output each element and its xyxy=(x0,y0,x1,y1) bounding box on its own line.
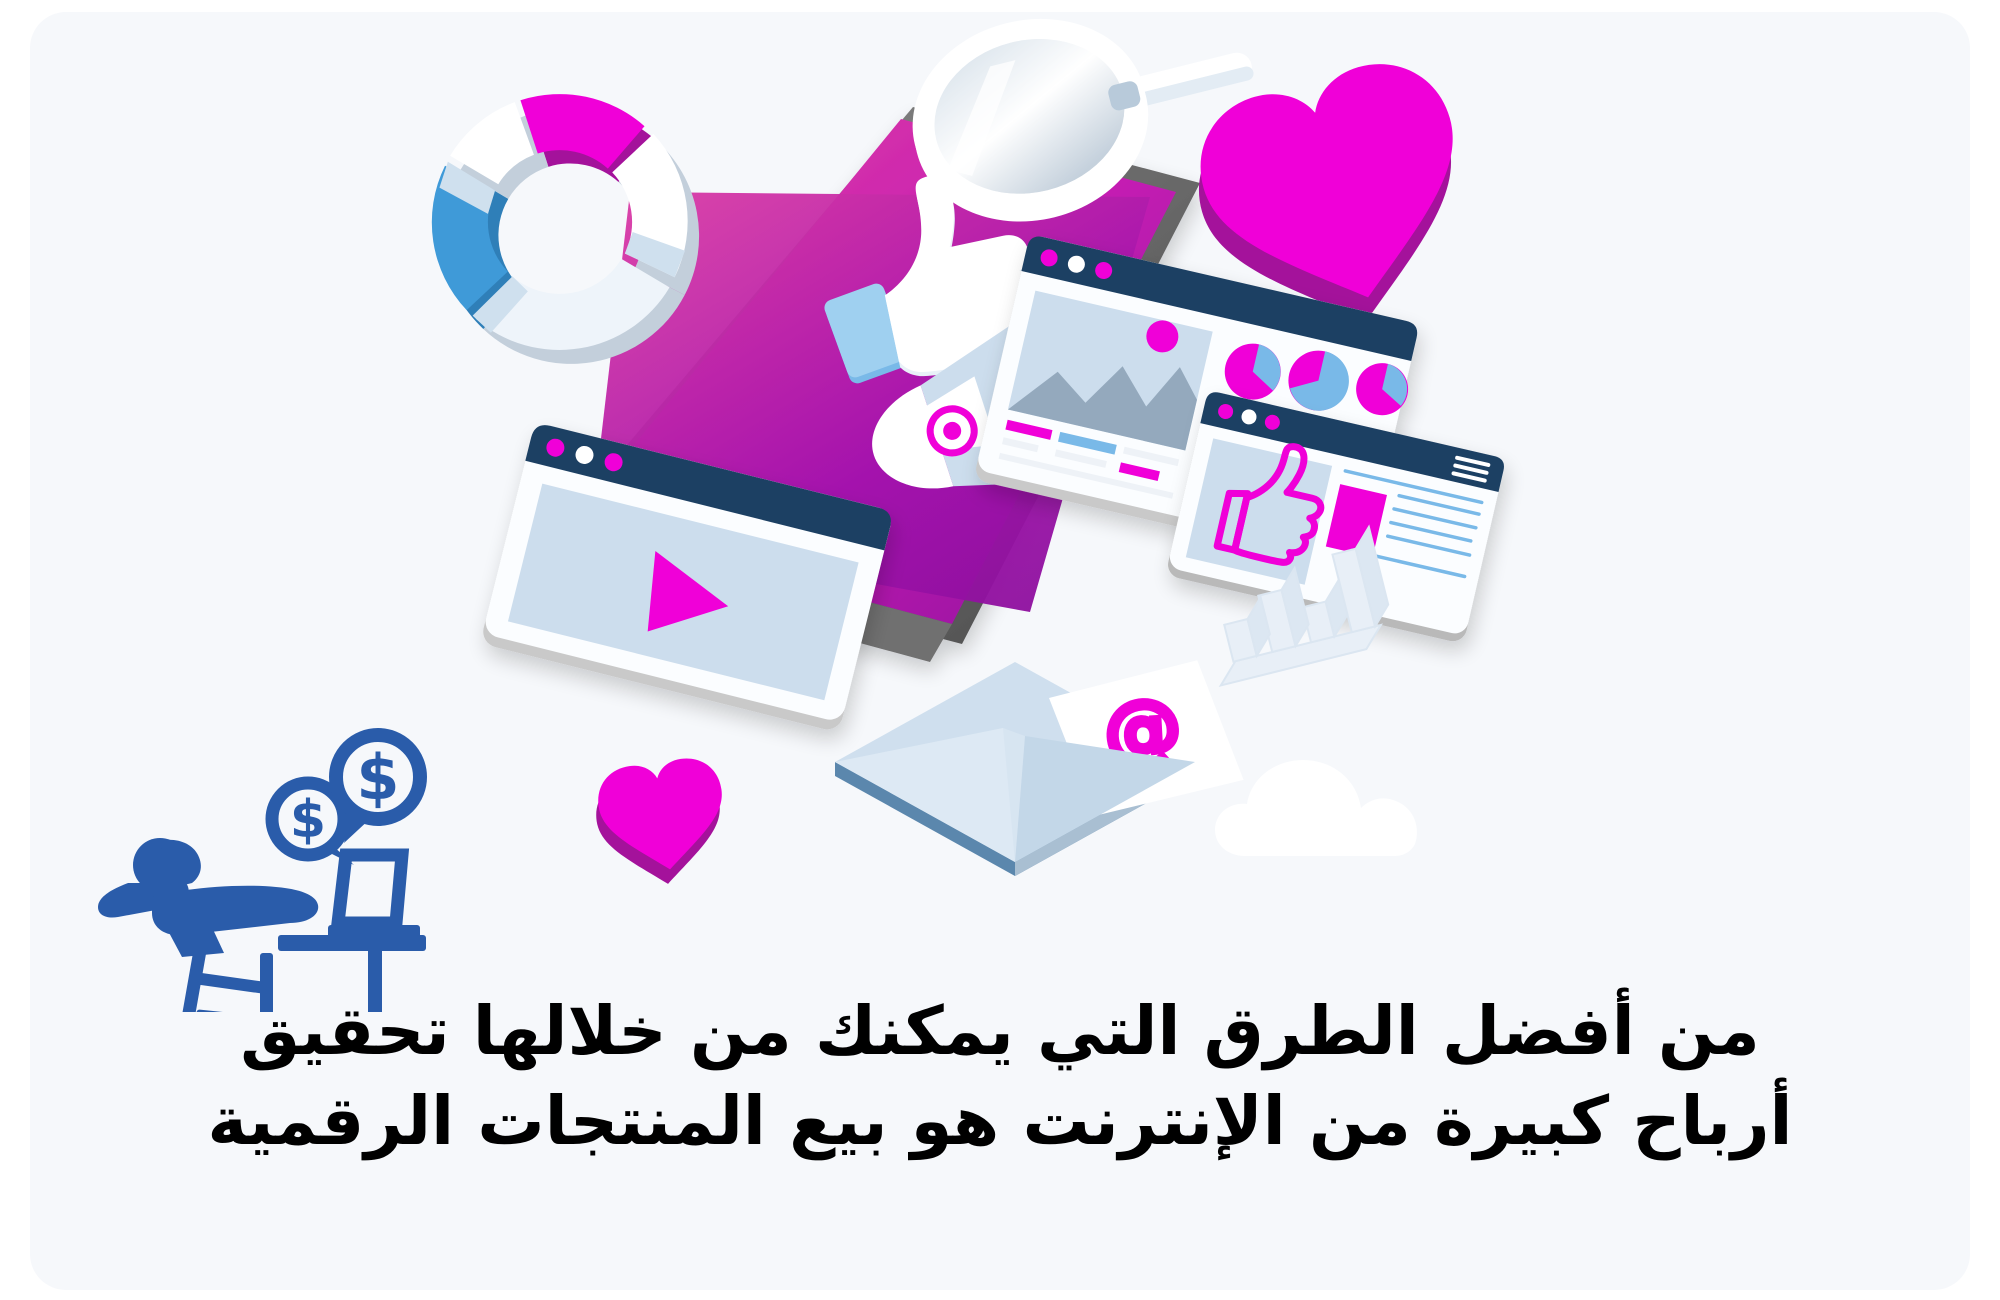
promo-card: @ $ xyxy=(30,12,1970,1290)
hero-illustration: @ $ xyxy=(30,12,1970,1012)
svg-text:$: $ xyxy=(290,790,326,850)
svg-text:$: $ xyxy=(356,741,399,814)
dollar-coin-badge-large: $ xyxy=(336,735,420,843)
envelope-icon: @ xyxy=(835,658,1245,876)
caption-text: من أفضل الطرق التي يمكنك من خلالها تحقيق… xyxy=(90,987,1910,1167)
laptop-icon xyxy=(328,855,420,939)
caption-line-1: من أفضل الطرق التي يمكنك من خلالها تحقيق xyxy=(90,987,1910,1077)
person-relaxing-at-desk-icon: $ $ xyxy=(98,735,426,1012)
heart-icon-small xyxy=(590,754,734,893)
cloud-icon xyxy=(1215,760,1417,856)
caption-line-2: أرباح كبيرة من الإنترنت هو بيع المنتجات … xyxy=(90,1077,1910,1167)
